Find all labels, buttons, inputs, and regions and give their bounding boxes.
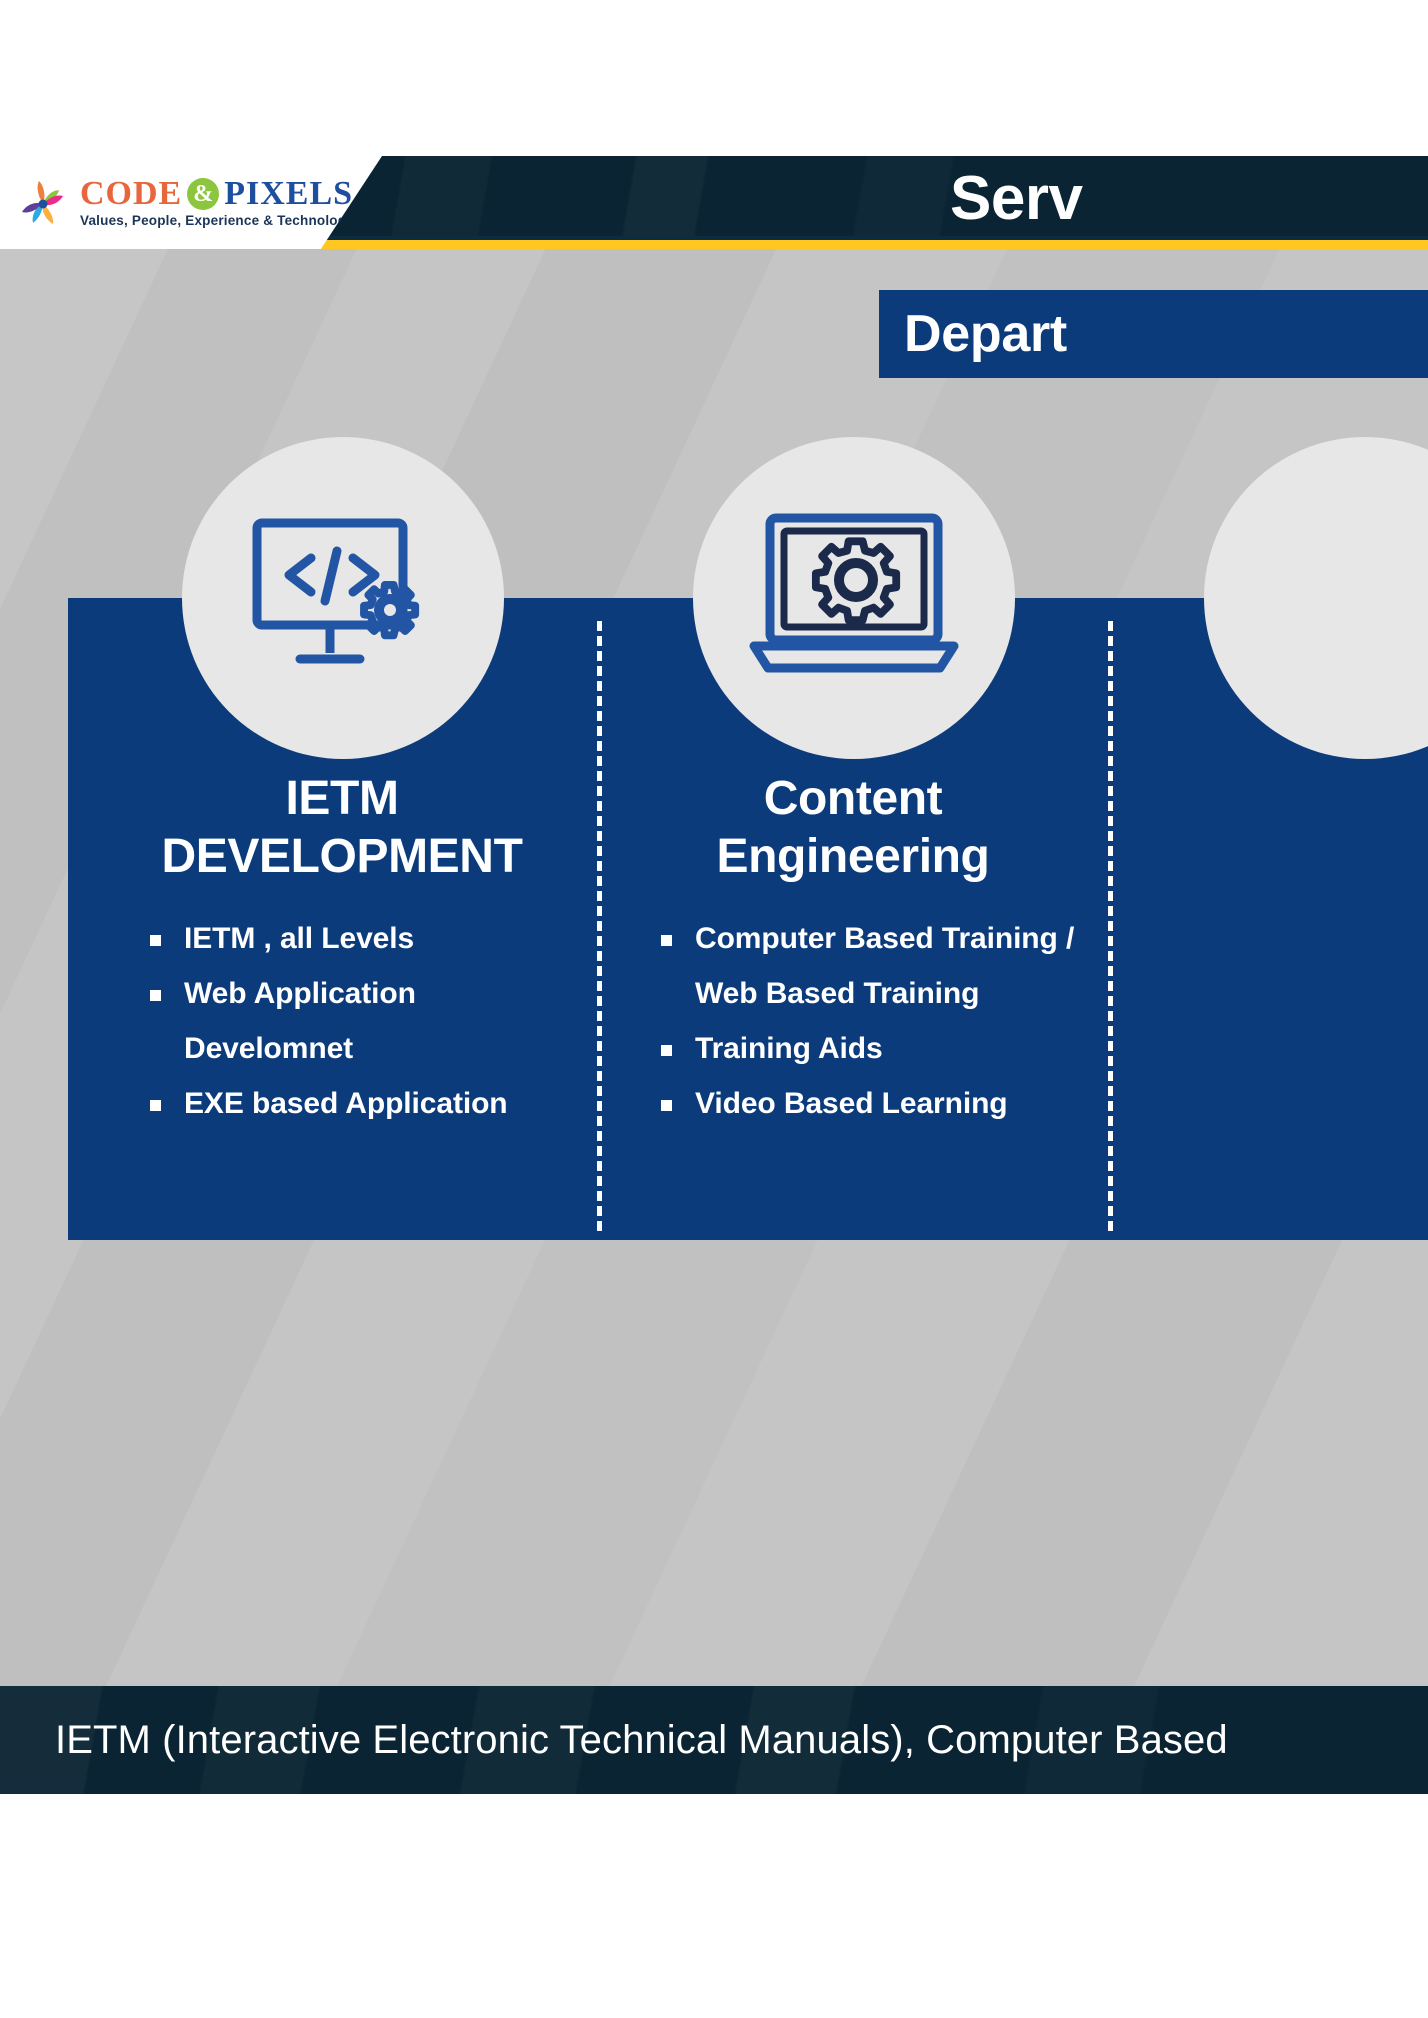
service-card-ietm-development: IETM DEVELOPMENT IETM , all Levels Web A… bbox=[92, 770, 592, 1132]
laptop-gear-icon bbox=[748, 510, 960, 686]
department-badge: Depart bbox=[879, 290, 1428, 378]
list-item: Web Application Develomnet bbox=[144, 967, 586, 1077]
list-item: Computer Based Training / Web Based Trai… bbox=[655, 912, 1097, 1022]
icon-badge-ietm-development bbox=[182, 437, 504, 759]
department-badge-label: Depart bbox=[904, 304, 1067, 364]
list-item: Video Based Learning bbox=[655, 1077, 1097, 1132]
list-item: EXE based Application bbox=[144, 1077, 586, 1132]
card-divider-1 bbox=[597, 621, 602, 1231]
monitor-code-gear-icon bbox=[245, 513, 441, 683]
logo-code-text: CODE bbox=[80, 177, 182, 211]
service-card-title-line2: Engineering bbox=[717, 830, 990, 883]
logo-panel[interactable]: CODE & PIXELS Values, People, Experience… bbox=[0, 156, 382, 249]
brand-wordmark: CODE & PIXELS Values, People, Experience… bbox=[80, 177, 354, 228]
service-card-title-line1: IETM bbox=[285, 772, 398, 825]
card-divider-2 bbox=[1108, 621, 1113, 1231]
list-item: Training Aids bbox=[655, 1022, 1097, 1077]
service-card-title: IETM DEVELOPMENT bbox=[92, 770, 592, 886]
service-card-title-line2: DEVELOPMENT bbox=[162, 830, 523, 883]
top-margin bbox=[0, 0, 1428, 156]
footer-bar: IETM (Interactive Electronic Technical M… bbox=[0, 1686, 1428, 1794]
logo-ampersand-icon: & bbox=[187, 178, 219, 210]
pinwheel-logo-icon bbox=[14, 174, 72, 232]
service-card-bullet-list: IETM , all Levels Web Application Develo… bbox=[92, 912, 592, 1132]
service-card-title: Content Engineering bbox=[603, 770, 1103, 886]
service-card-title-line1: Content bbox=[764, 772, 943, 825]
footer-caption: IETM (Interactive Electronic Technical M… bbox=[0, 1718, 1228, 1763]
service-card-content-engineering: Content Engineering Computer Based Train… bbox=[603, 770, 1103, 1132]
logo-pixels-text: PIXELS bbox=[224, 177, 353, 211]
page-title: Serv bbox=[950, 156, 1082, 240]
brand-tagline: Values, People, Experience & Technology bbox=[80, 214, 354, 228]
brand-logo[interactable]: CODE & PIXELS Values, People, Experience… bbox=[0, 174, 354, 232]
icon-badge-content-engineering bbox=[693, 437, 1015, 759]
poster-canvas: Serv CODE & PIXELS bbox=[0, 0, 1428, 2018]
service-card-bullet-list: Computer Based Training / Web Based Trai… bbox=[603, 912, 1103, 1132]
bottom-margin bbox=[0, 1794, 1428, 2018]
list-item: IETM , all Levels bbox=[144, 912, 586, 967]
